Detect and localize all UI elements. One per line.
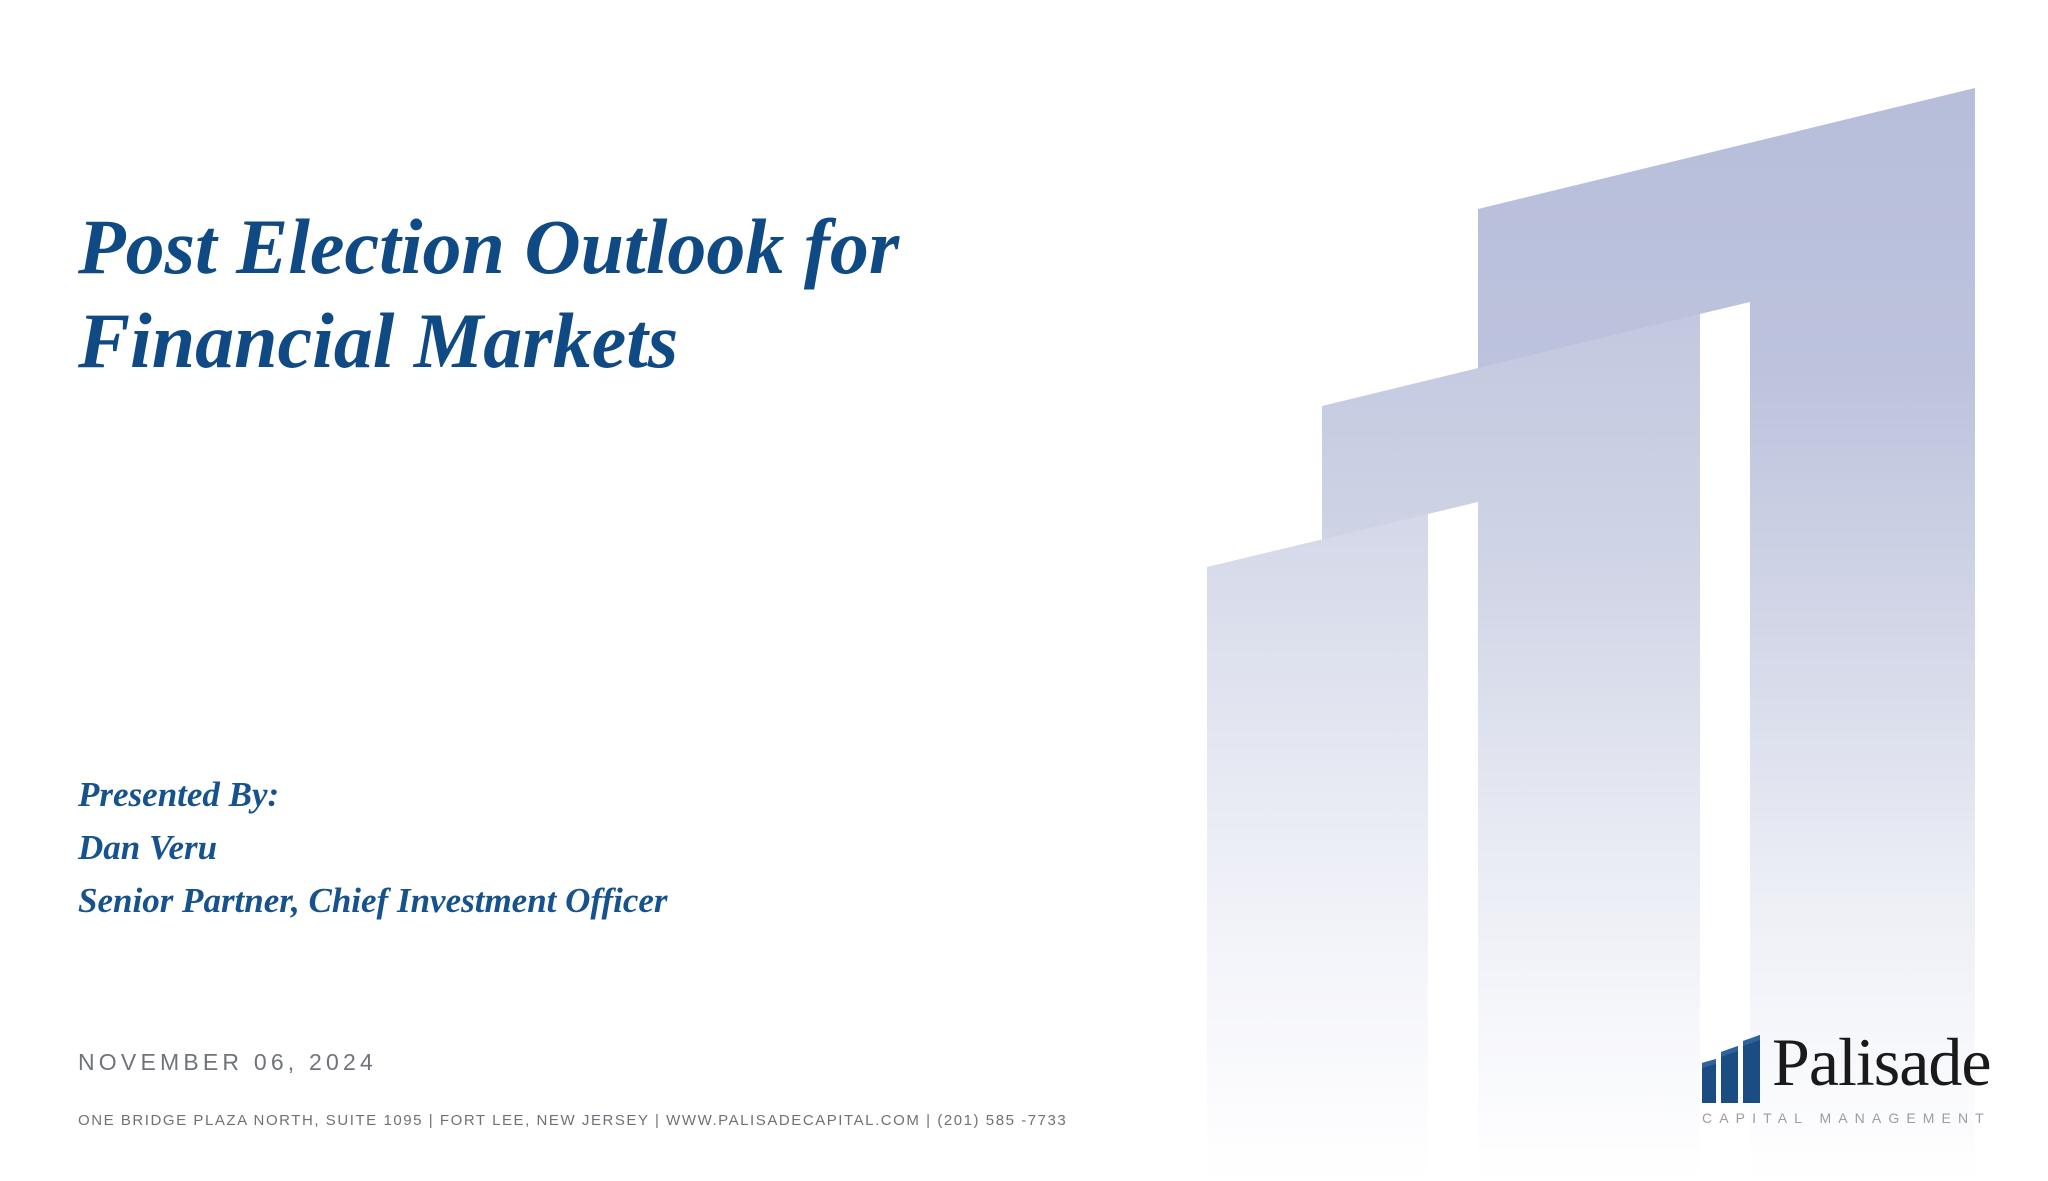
watermark-bar-medium xyxy=(1322,314,1700,1181)
slide-title-line-1: Post Election Outlook for xyxy=(78,200,1278,294)
presentation-title-slide: Post Election Outlook for Financial Mark… xyxy=(0,0,2048,1181)
ascending-bars-watermark xyxy=(0,0,2048,1181)
logo-row: Palisade xyxy=(1700,1029,1980,1107)
company-contact-footer: ONE BRIDGE PLAZA NORTH, SUITE 1095 | FOR… xyxy=(78,1112,1067,1129)
watermark-gap-1 xyxy=(1428,502,1478,1181)
ascending-bars-mark-icon xyxy=(1700,1033,1762,1105)
presenter-role: Senior Partner, Chief Investment Officer xyxy=(78,874,1178,927)
watermark-bar-short xyxy=(1207,514,1428,1181)
company-logo: Palisade CAPITAL MANAGEMENT xyxy=(1700,1029,1980,1137)
presentation-date: NOVEMBER 06, 2024 xyxy=(78,1049,377,1076)
watermark-bar-tall xyxy=(1478,88,1975,1181)
logo-wordmark: Palisade xyxy=(1772,1025,1991,1099)
slide-title: Post Election Outlook for Financial Mark… xyxy=(78,200,1278,388)
presented-by-label: Presented By: xyxy=(78,768,1178,821)
presenter-name: Dan Veru xyxy=(78,821,1178,874)
logo-tagline: CAPITAL MANAGEMENT xyxy=(1702,1110,1991,1126)
slide-title-line-2: Financial Markets xyxy=(78,294,1278,388)
presenter-block: Presented By: Dan Veru Senior Partner, C… xyxy=(78,768,1178,927)
